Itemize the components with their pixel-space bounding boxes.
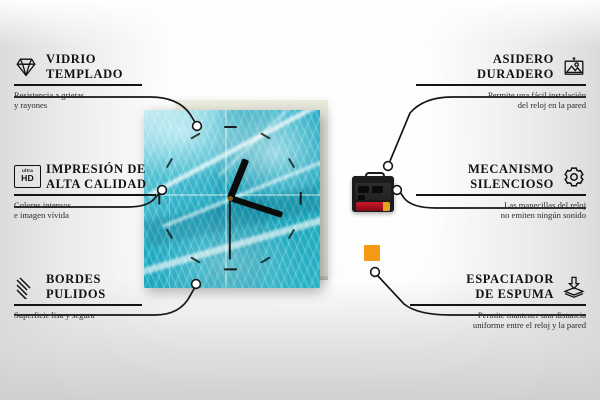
feature-rule bbox=[14, 84, 142, 86]
feature-title-impresion: IMPRESIÓN DE ALTA CALIDAD bbox=[46, 162, 147, 191]
feature-desc-line1: Permite una fácil instalación bbox=[416, 90, 586, 101]
feature-title-line1: ASIDERO bbox=[477, 52, 554, 67]
feature-header-bordes: BORDES PULIDOS bbox=[14, 272, 164, 301]
feature-title-mecanismo: MECANISMO SILENCIOSO bbox=[468, 162, 554, 191]
picture-hanger-icon bbox=[562, 55, 586, 79]
feature-espaciador-de-espuma: ESPACIADOR DE ESPUMA Permite mantener un… bbox=[410, 272, 586, 331]
feature-title-vidrio-templado: VIDRIO TEMPLADO bbox=[46, 52, 123, 81]
ultra-hd-icon-bottom-text: HD bbox=[21, 174, 34, 183]
feature-desc-line2: del reloj en la pared bbox=[416, 100, 586, 111]
gear-icon bbox=[562, 165, 586, 189]
feature-title-espaciador: ESPACIADOR DE ESPUMA bbox=[466, 272, 554, 301]
connector-dot-bordes bbox=[192, 280, 201, 289]
feature-title-line2: SILENCIOSO bbox=[468, 177, 554, 192]
polished-edges-icon bbox=[14, 275, 38, 299]
feature-title-line2: TEMPLADO bbox=[46, 67, 123, 82]
connector-dot-espaciador bbox=[371, 268, 380, 277]
feature-desc-line1: Las manecillas del reloj bbox=[416, 200, 586, 211]
ultra-hd-icon: ultra HD bbox=[14, 165, 38, 189]
feature-desc-line2: e imagen vívida bbox=[14, 210, 174, 221]
feature-title-asidero: ASIDERO DURADERO bbox=[477, 52, 554, 81]
feature-header-asidero: ASIDERO DURADERO bbox=[416, 52, 586, 81]
diamond-icon bbox=[14, 55, 38, 79]
feature-title-line1: BORDES bbox=[46, 272, 106, 287]
feature-title-line1: ESPACIADOR bbox=[466, 272, 554, 287]
feature-title-line2: ALTA CALIDAD bbox=[46, 177, 147, 192]
feature-rule bbox=[14, 304, 142, 306]
connector-dot-mecanismo bbox=[393, 186, 402, 195]
feature-mecanismo-silencioso: MECANISMO SILENCIOSO Las manecillas del … bbox=[416, 162, 586, 221]
feature-header-impresion: ultra HD IMPRESIÓN DE ALTA CALIDAD bbox=[14, 162, 174, 191]
infographic-canvas: VIDRIO TEMPLADO Resistencia a grietas y … bbox=[0, 0, 600, 400]
feature-desc-line1: Permite mantener una distancia bbox=[410, 310, 586, 321]
feature-rule bbox=[14, 194, 156, 196]
feature-title-line1: VIDRIO bbox=[46, 52, 123, 67]
feature-title-line1: MECANISMO bbox=[468, 162, 554, 177]
feature-bordes-pulidos: BORDES PULIDOS Superficie lisa y segura bbox=[14, 272, 164, 320]
feature-header-espaciador: ESPACIADOR DE ESPUMA bbox=[410, 272, 586, 301]
feature-rule bbox=[410, 304, 586, 306]
feature-vidrio-templado: VIDRIO TEMPLADO Resistencia a grietas y … bbox=[14, 52, 164, 111]
feature-title-line1: IMPRESIÓN DE bbox=[46, 162, 147, 177]
feature-impresion-alta-calidad: ultra HD IMPRESIÓN DE ALTA CALIDAD Color… bbox=[14, 162, 174, 221]
feature-desc-line2: no emiten ningún sonido bbox=[416, 210, 586, 221]
feature-rule bbox=[416, 194, 586, 196]
feature-title-line2: PULIDOS bbox=[46, 287, 106, 302]
feature-title-line2: DURADERO bbox=[477, 67, 554, 82]
feature-title-line2: DE ESPUMA bbox=[466, 287, 554, 302]
feature-desc-line2: uniforme entre el reloj y la pared bbox=[410, 320, 586, 331]
connector-dot-vidrio-templado bbox=[193, 122, 202, 131]
feature-header-vidrio-templado: VIDRIO TEMPLADO bbox=[14, 52, 164, 81]
feature-title-bordes: BORDES PULIDOS bbox=[46, 272, 106, 301]
feature-desc-line1: Resistencia a grietas bbox=[14, 90, 164, 101]
connector-dot-asidero bbox=[384, 162, 393, 171]
feature-rule bbox=[416, 84, 586, 86]
feature-desc-line1: Colores intensos bbox=[14, 200, 174, 211]
feature-header-mecanismo: MECANISMO SILENCIOSO bbox=[416, 162, 586, 191]
foam-spacer-icon bbox=[562, 275, 586, 299]
feature-desc-line1: Superficie lisa y segura bbox=[14, 310, 164, 321]
feature-desc-line2: y rayones bbox=[14, 100, 164, 111]
feature-asidero-duradero: ASIDERO DURADERO Permite una fácil insta… bbox=[416, 52, 586, 111]
